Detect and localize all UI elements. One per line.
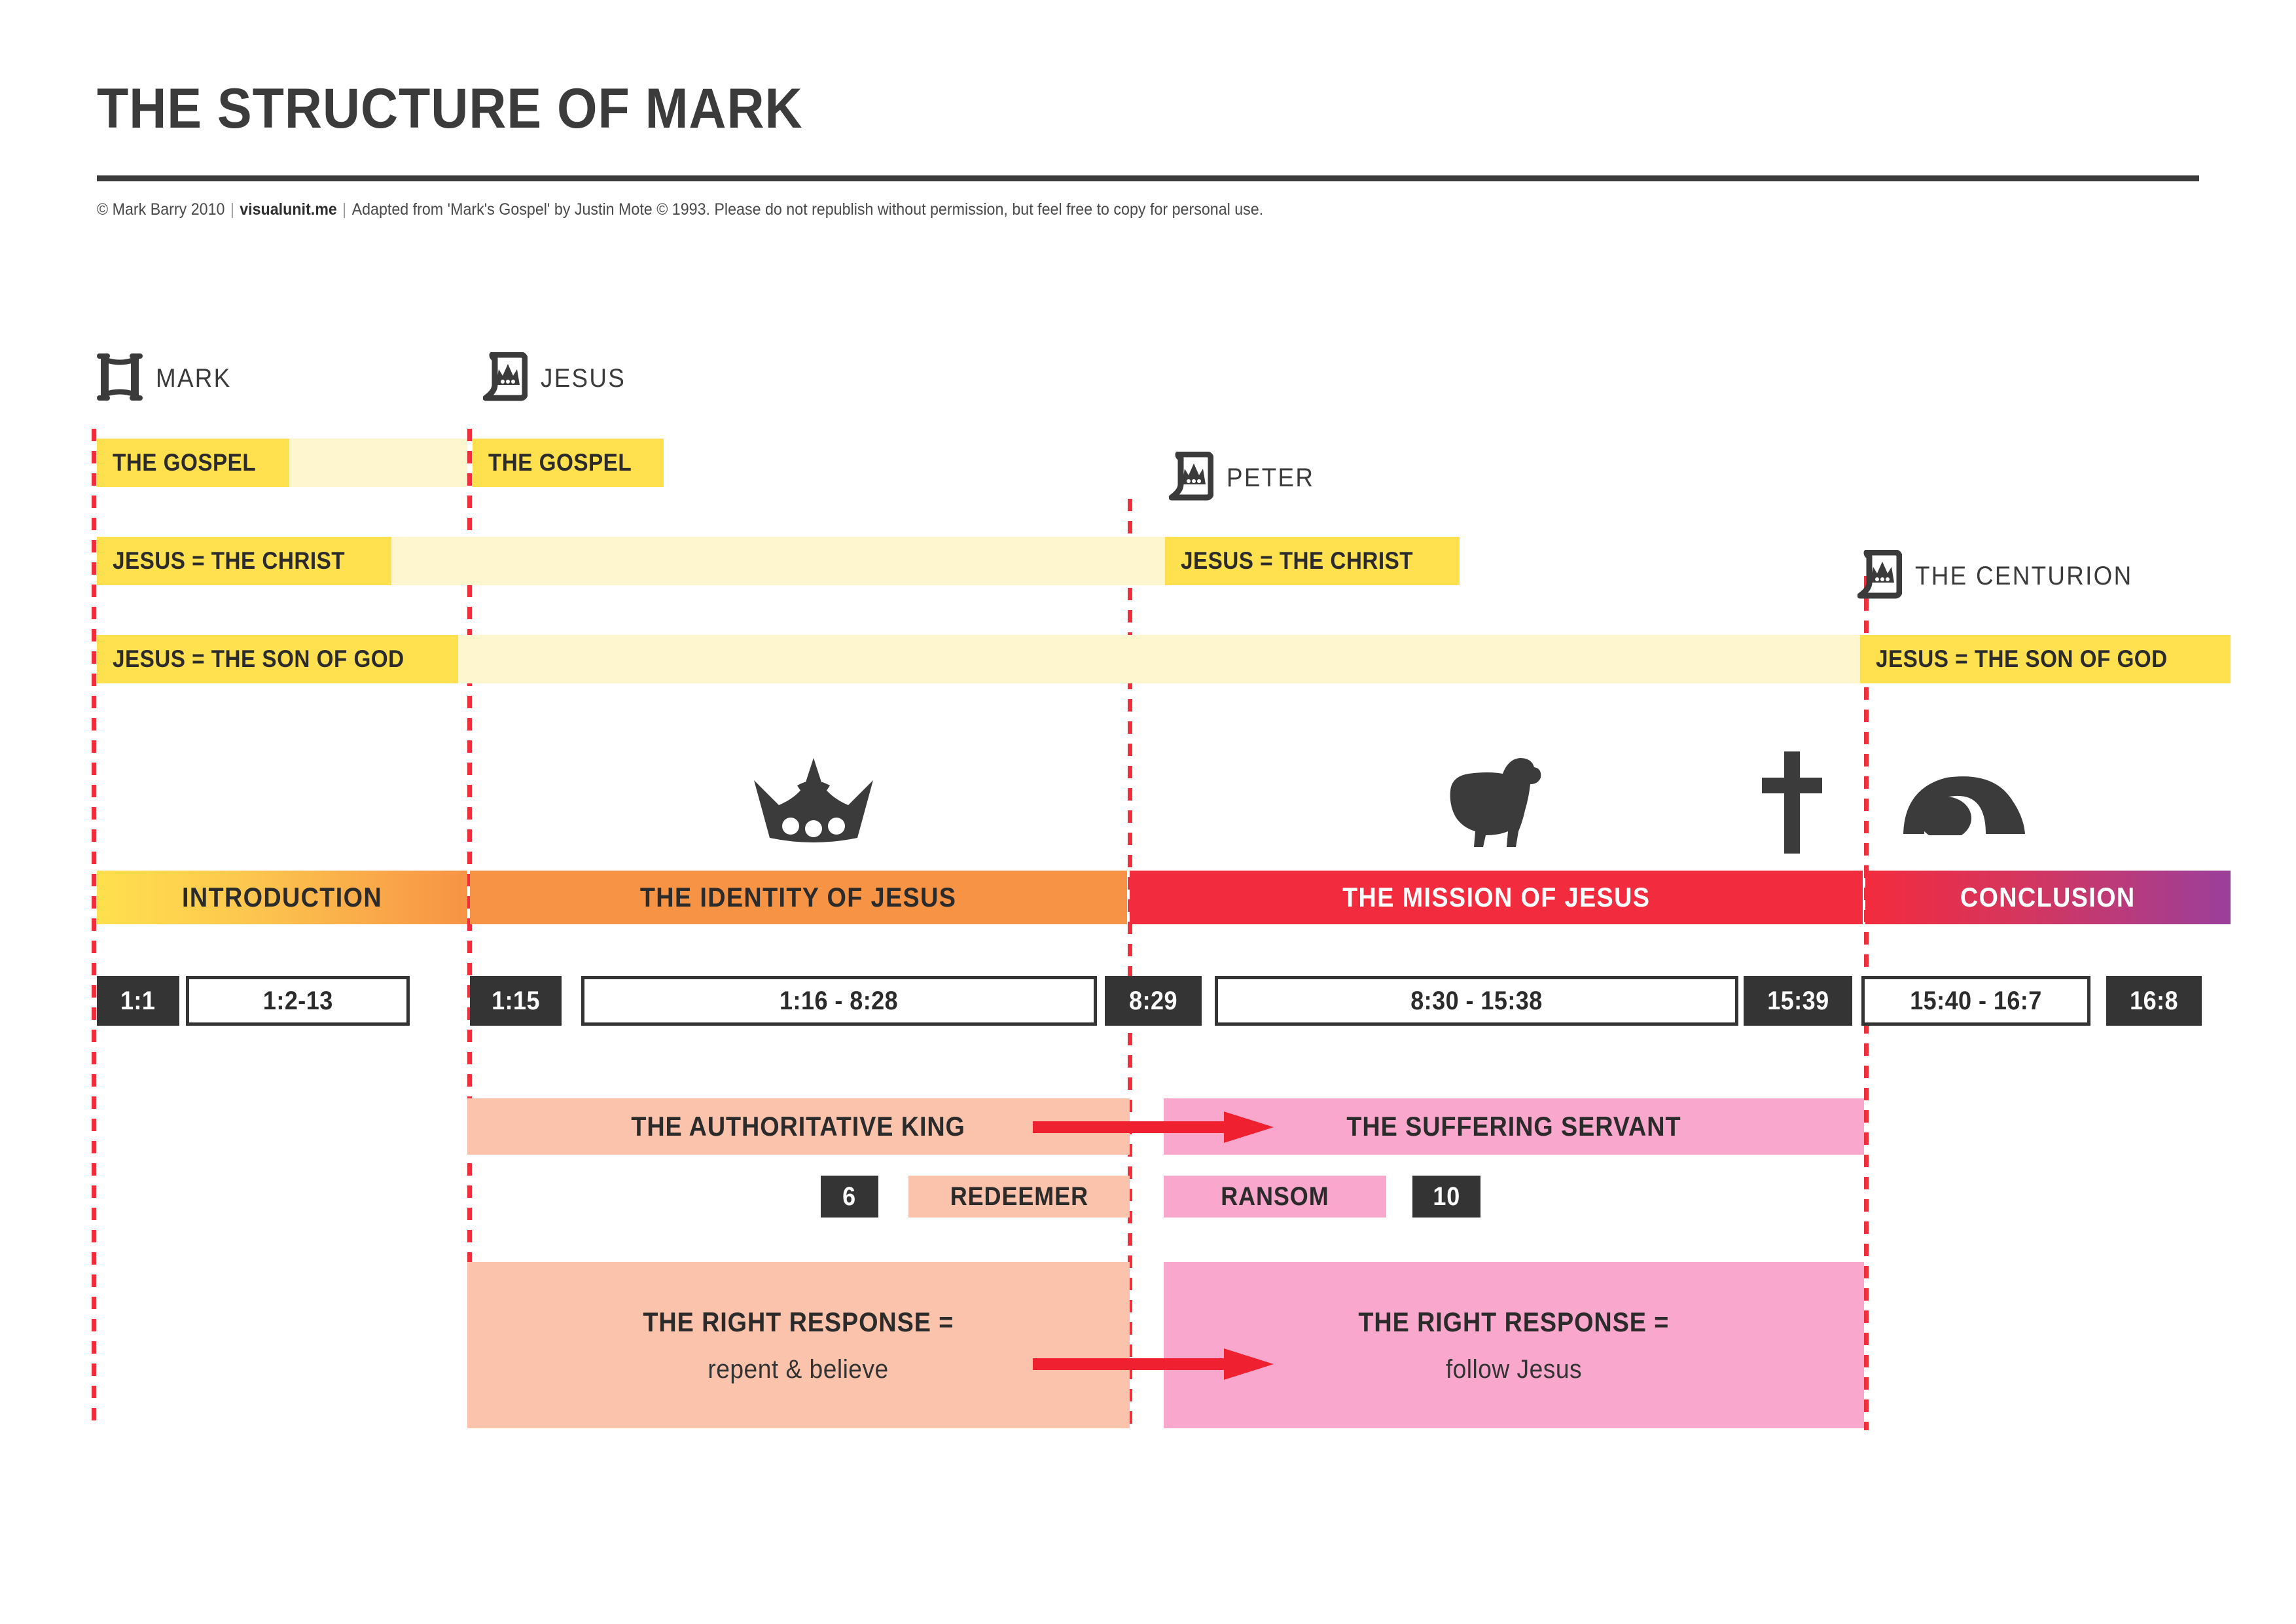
section-introduction[interactable]: INTRODUCTION (97, 871, 467, 924)
credit-note: Adapted from 'Mark's Gospel' by Justin M… (352, 200, 1264, 219)
theme-redeemer: REDEEMER (908, 1176, 1130, 1218)
theme-right-response-left-detail: repent & believe (708, 1355, 889, 1384)
reference-chip[interactable]: 15:40 - 16:7 (1861, 976, 2090, 1026)
title-divider-rule (97, 175, 2199, 181)
claim-gospel-mark: THE GOSPEL (97, 439, 289, 487)
reference-chip[interactable]: 15:39 (1744, 976, 1852, 1026)
speaker-label-peter: PETER (1227, 463, 1314, 493)
credit-copyright: © Mark Barry 2010 (97, 200, 224, 219)
speaker-centurion: THE CENTURION (1857, 550, 2151, 603)
credit-site-link[interactable]: visualunit.me (240, 200, 337, 219)
speech-bubble-crown-icon (1169, 452, 1213, 505)
infographic-canvas: THE STRUCTURE OF MARK © Mark Barry 2010|… (0, 0, 2296, 1624)
chapter-marker-6: 6 (821, 1176, 878, 1218)
claim-gospel-mark-extension (289, 439, 467, 487)
speaker-label-centurion: THE CENTURION (1915, 562, 2132, 591)
theme-right-response-right-title: THE RIGHT RESPONSE = (1359, 1307, 1670, 1338)
theme-authoritative-king: THE AUTHORITATIVE KING (467, 1098, 1130, 1155)
section-introduction-label: INTRODUCTION (182, 882, 382, 913)
claim-gospel-jesus: THE GOSPEL (473, 439, 664, 487)
claim-son-mark-extension (458, 635, 1860, 683)
credit-separator-1: | (224, 200, 240, 219)
crown-icon (750, 754, 877, 856)
section-mission-label: THE MISSION OF JESUS (1342, 882, 1650, 913)
speaker-label-mark: MARK (156, 364, 232, 393)
theme-ransom: RANSOM (1164, 1176, 1386, 1218)
section-identity[interactable]: THE IDENTITY OF JESUS (470, 871, 1127, 924)
claim-son-centurion: JESUS = THE SON OF GOD (1860, 635, 2231, 683)
divider-line-1-1 (92, 429, 96, 1430)
claim-christ-peter-label: JESUS = THE CHRIST (1181, 547, 1413, 575)
claim-christ-mark: JESUS = THE CHRIST (97, 537, 391, 585)
speech-bubble-crown-icon (1857, 550, 1902, 603)
chapter-marker-10: 10 (1412, 1176, 1480, 1218)
claim-christ-mark-label: JESUS = THE CHRIST (113, 547, 345, 575)
credit-separator-2: | (337, 200, 352, 219)
lamb-icon (1443, 754, 1547, 857)
credit-line: © Mark Barry 2010|visualunit.me|Adapted … (97, 196, 2045, 223)
scroll-icon (97, 352, 143, 405)
transition-arrow-repent-to-follow (1033, 1347, 1275, 1384)
speaker-peter: PETER (1169, 452, 1322, 505)
cross-icon (1762, 751, 1822, 857)
theme-right-response-right-detail: follow Jesus (1446, 1355, 1582, 1384)
page-title: THE STRUCTURE OF MARK (97, 77, 1662, 140)
claim-son-centurion-label: JESUS = THE SON OF GOD (1876, 645, 2168, 673)
reference-chip[interactable]: 8:30 - 15:38 (1215, 976, 1738, 1026)
theme-right-response-left-title: THE RIGHT RESPONSE = (643, 1307, 954, 1338)
reference-chip[interactable]: 1:1 (97, 976, 179, 1026)
theme-right-response-right: THE RIGHT RESPONSE = follow Jesus (1164, 1262, 1864, 1428)
theme-authoritative-king-label: THE AUTHORITATIVE KING (632, 1111, 965, 1142)
section-identity-label: THE IDENTITY OF JESUS (640, 882, 956, 913)
speech-bubble-crown-icon (483, 352, 528, 405)
claim-son-mark: JESUS = THE SON OF GOD (97, 635, 458, 683)
section-conclusion-label: CONCLUSION (1960, 882, 2136, 913)
empty-tomb-icon (1902, 771, 2026, 839)
claim-son-mark-label: JESUS = THE SON OF GOD (113, 645, 404, 673)
theme-right-response-left: THE RIGHT RESPONSE = repent & believe (467, 1262, 1130, 1428)
reference-chip[interactable]: 8:29 (1105, 976, 1202, 1026)
speaker-jesus: JESUS (483, 352, 633, 405)
reference-chip[interactable]: 1:16 - 8:28 (581, 976, 1097, 1026)
claim-gospel-mark-label: THE GOSPEL (113, 449, 256, 477)
reference-chip[interactable]: 1:15 (470, 976, 562, 1026)
reference-chip[interactable]: 1:2-13 (186, 976, 410, 1026)
section-conclusion[interactable]: CONCLUSION (1865, 871, 2231, 924)
claim-gospel-jesus-label: THE GOSPEL (488, 449, 632, 477)
theme-suffering-servant-label: THE SUFFERING SERVANT (1346, 1111, 1681, 1142)
speaker-label-jesus: JESUS (541, 364, 626, 393)
transition-arrow-king-to-servant (1033, 1110, 1275, 1147)
section-mission[interactable]: THE MISSION OF JESUS (1130, 871, 1863, 924)
claim-christ-mark-extension (391, 537, 1165, 585)
speaker-mark: MARK (97, 352, 238, 405)
claim-christ-peter: JESUS = THE CHRIST (1165, 537, 1460, 585)
reference-chip[interactable]: 16:8 (2106, 976, 2202, 1026)
